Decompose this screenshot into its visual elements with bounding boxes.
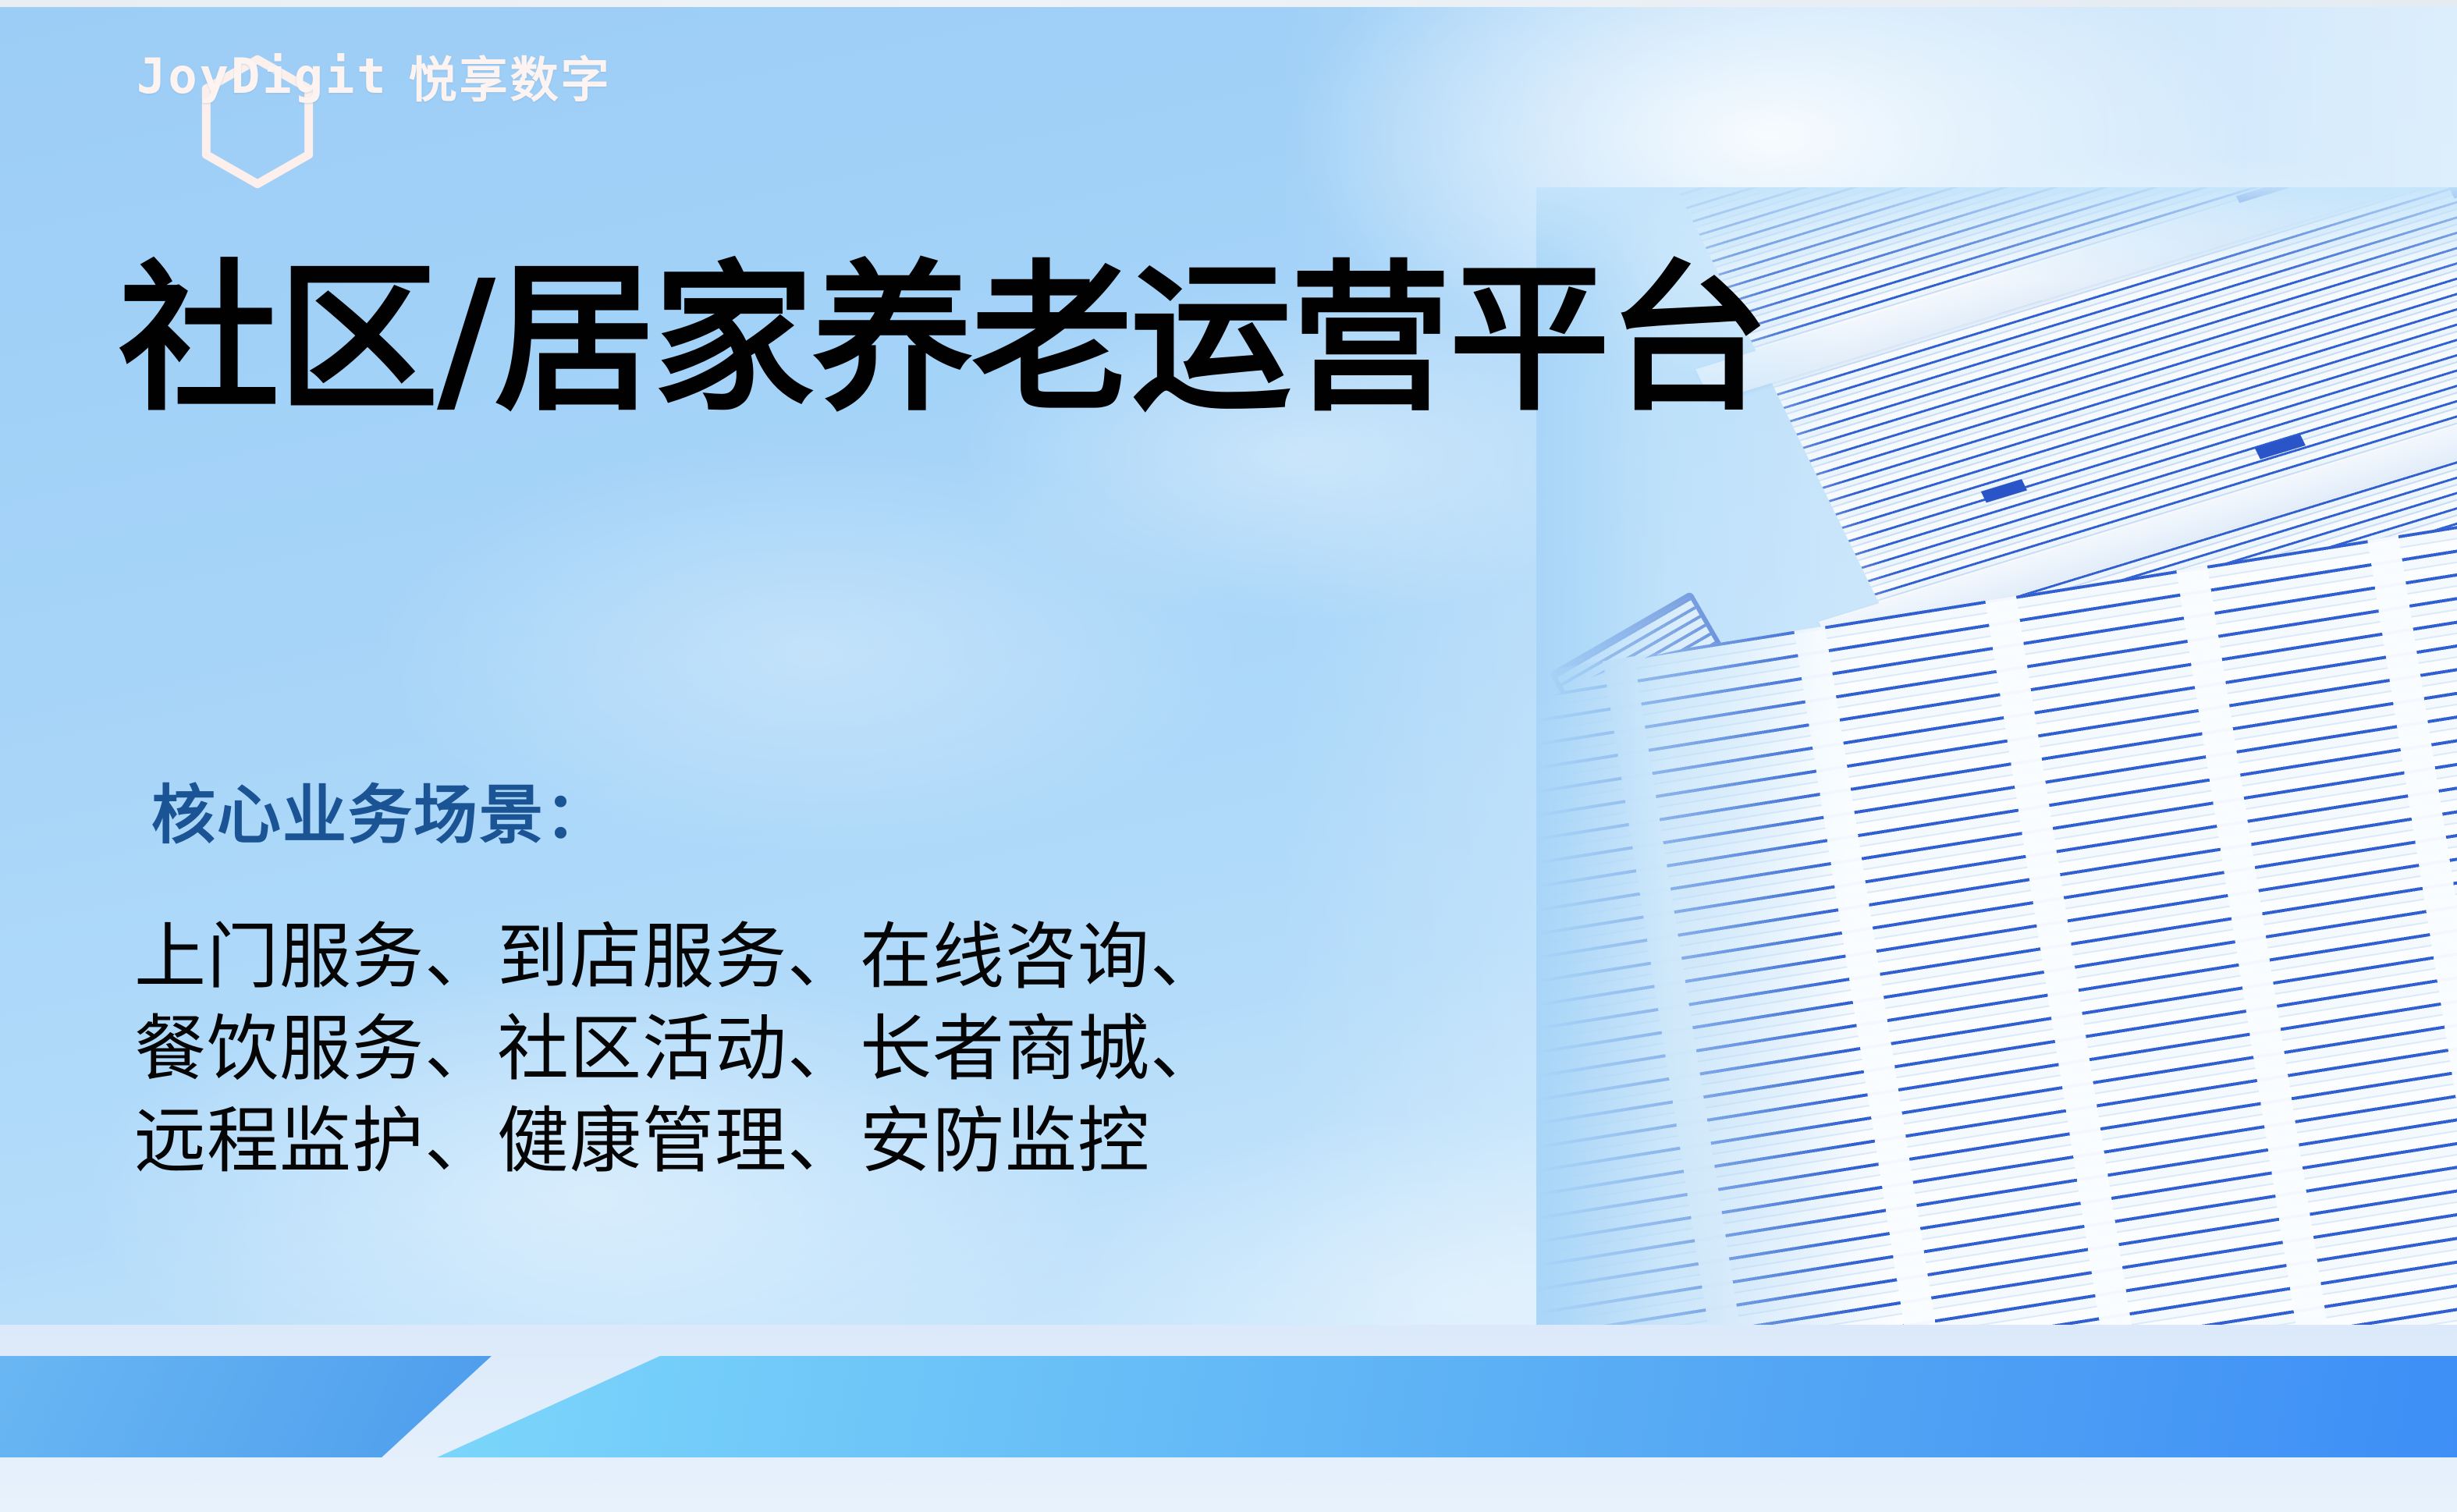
section-subhead: 核心业务场景：: [151, 763, 610, 856]
scene-line: 餐饮服务、社区活动、长者商城、: [134, 1003, 1223, 1095]
page-title: 社区/居家养老运营平台: [119, 259, 1767, 420]
bottom-banner: [0, 1325, 2457, 1512]
business-scenes-list: 上门服务、到店服务、在线咨询、 餐饮服务、社区活动、长者商城、 远程监护、健康管…: [134, 911, 1223, 1187]
brand-mark-text: JoyDigit: [137, 48, 389, 105]
slide-canvas: JoyDigit 悦享数字 社区/居家养老运营平台 核心业务场景： 上门服务、到…: [0, 0, 2457, 1512]
scene-line: 上门服务、到店服务、在线咨询、: [134, 911, 1223, 1003]
brand-logo: JoyDigit 悦享数字: [137, 41, 612, 111]
scene-line: 远程监护、健康管理、安防监控: [134, 1095, 1223, 1187]
brand-cn-text: 悦享数字: [409, 41, 612, 111]
bottom-bar-right: [437, 1356, 2457, 1457]
top-edge-strip: [0, 0, 2457, 7]
